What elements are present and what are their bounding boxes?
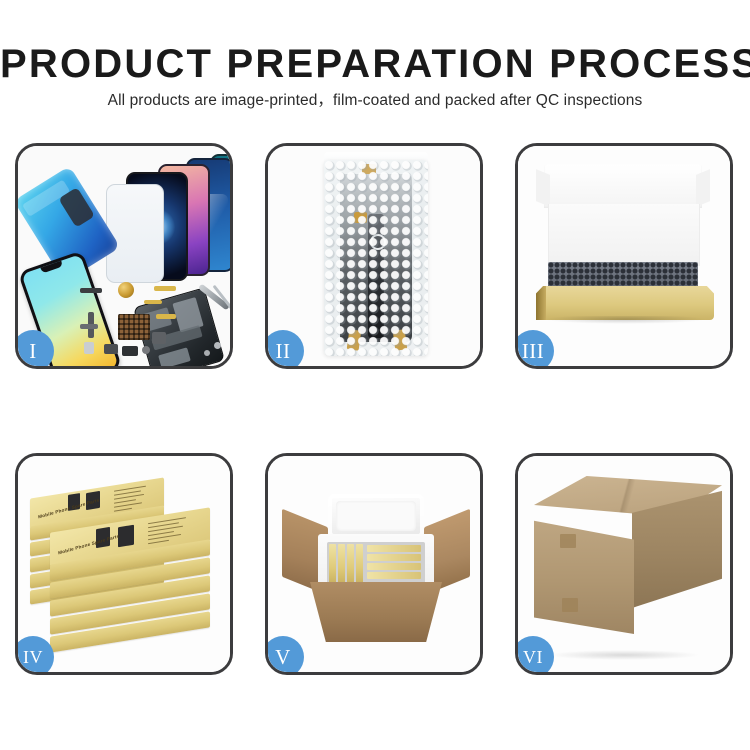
step-badge-1: I <box>15 330 54 369</box>
foam-box <box>318 494 434 590</box>
box-stack: Mobile Phone Spare Parts Mobil <box>28 474 224 646</box>
part-flex-cable-1 <box>154 286 176 291</box>
step-badge-5: V <box>265 636 304 675</box>
sealed-carton <box>534 476 722 642</box>
box-kraft-base <box>536 286 714 320</box>
box-lid-top <box>544 164 702 208</box>
process-step-4: Mobile Phone Spare Parts Mobil <box>15 453 233 675</box>
carton-tape-upper <box>560 534 576 548</box>
process-step-5: V <box>265 453 483 675</box>
step-6-photo <box>518 456 730 672</box>
step-5-photo <box>268 456 480 672</box>
process-step-1: I <box>15 143 233 369</box>
carton-body <box>310 582 442 642</box>
open-flat-box <box>536 164 714 328</box>
part-speaker <box>104 344 118 354</box>
step-badge-3: III <box>515 330 554 369</box>
process-step-3: III <box>515 143 733 369</box>
carton-front-face <box>534 516 634 634</box>
part-screw-1 <box>214 342 221 349</box>
part-screw-2 <box>204 350 210 356</box>
process-step-grid: I II <box>0 0 750 750</box>
step-badge-2: II <box>265 330 304 369</box>
part-coin <box>118 282 134 298</box>
process-step-2: II <box>265 143 483 369</box>
foam-cavity <box>327 542 425 586</box>
part-camera-module <box>122 346 138 356</box>
part-sim-tray <box>84 342 94 354</box>
step-badge-6: VI <box>515 636 554 675</box>
part-vibrator <box>152 332 166 344</box>
step-badge-4: IV <box>15 636 54 675</box>
bubble-wrapped-item <box>324 160 428 356</box>
box-art-screen-b2 <box>118 525 134 548</box>
foam-lid <box>328 494 424 538</box>
bubble-wrap-texture <box>324 160 428 356</box>
carton-tape-lower <box>562 598 578 612</box>
part-connector-strip <box>80 288 102 293</box>
part-small-bar <box>80 324 98 329</box>
part-flex-cable-3 <box>156 314 176 319</box>
phone-notch <box>40 261 63 274</box>
part-flex-cable-2 <box>144 300 162 304</box>
part-button <box>142 346 150 354</box>
product-preparation-infographic: PRODUCT PREPARATION PROCESS All products… <box>0 0 750 750</box>
process-step-6: VI <box>515 453 733 675</box>
screen-protector-glass <box>106 184 164 283</box>
step-3-photo <box>518 146 730 366</box>
step-1-photo <box>18 146 230 366</box>
open-carton <box>282 478 470 646</box>
step-4-photo: Mobile Phone Spare Parts Mobil <box>18 456 230 672</box>
box-lid-face <box>548 204 700 266</box>
part-chip-grid <box>118 314 150 340</box>
step-2-photo <box>268 146 480 366</box>
